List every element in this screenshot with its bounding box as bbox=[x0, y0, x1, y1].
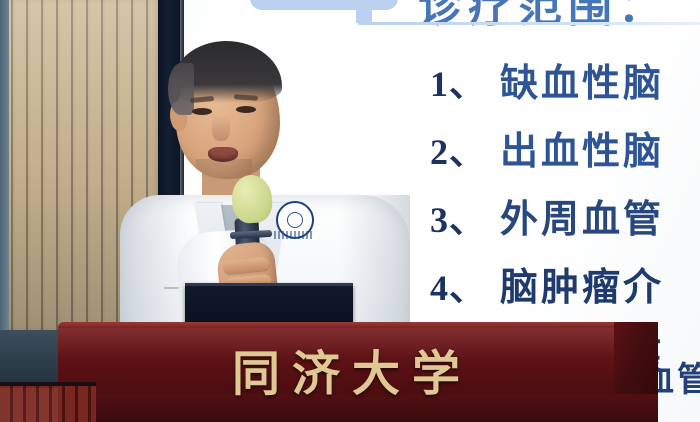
speaker-sideburn bbox=[168, 63, 194, 115]
bullet-number: 1、 bbox=[430, 55, 486, 107]
floor-left bbox=[0, 330, 60, 386]
bullet-text: 脑肿瘤介 bbox=[500, 256, 664, 311]
laptop-rear bbox=[185, 283, 353, 327]
slide-bullet-item: 4、 脑肿瘤介 bbox=[430, 256, 700, 324]
lectern-front-panel-left bbox=[0, 386, 96, 422]
bullet-number: 2、 bbox=[430, 123, 486, 175]
wall-left-edge bbox=[0, 0, 9, 330]
bullet-text: 外周血管 bbox=[500, 188, 664, 243]
finger bbox=[223, 257, 270, 275]
speaker-eye-left bbox=[192, 108, 212, 115]
emblem-text-mark bbox=[274, 231, 314, 239]
slide-title-tab-shape bbox=[250, 0, 398, 10]
slide-title-divider bbox=[358, 22, 700, 25]
slide-bullet-item: 1、 缺血性脑 bbox=[430, 52, 700, 120]
bullet-text: 缺血性脑 bbox=[500, 52, 664, 107]
lectern-top-edge bbox=[58, 322, 658, 328]
slide-bullet-item: 2、 出血性脑 bbox=[430, 120, 700, 188]
speaker-eye-right bbox=[236, 106, 256, 113]
bullet-number: 4、 bbox=[430, 259, 486, 311]
laptop-top-edge bbox=[185, 283, 353, 286]
slide-title: 诊疗范围： bbox=[418, 0, 668, 34]
lectern-university-name: 同济大学 bbox=[232, 334, 472, 404]
screenshot-root: 诊疗范围： 1、 缺血性脑 2、 出血性脑 3、 外周血管 4、 脑肿瘤介 5、… bbox=[0, 0, 700, 422]
slide-title-tab-notch bbox=[356, 8, 372, 23]
microphone-windscreen bbox=[230, 174, 273, 225]
bullet-text: 出血性脑 bbox=[500, 120, 664, 175]
slide-bullet-item: 3、 外周血管 bbox=[430, 188, 700, 256]
bullet-number: 3、 bbox=[430, 191, 486, 243]
speaker-nose bbox=[212, 115, 230, 141]
